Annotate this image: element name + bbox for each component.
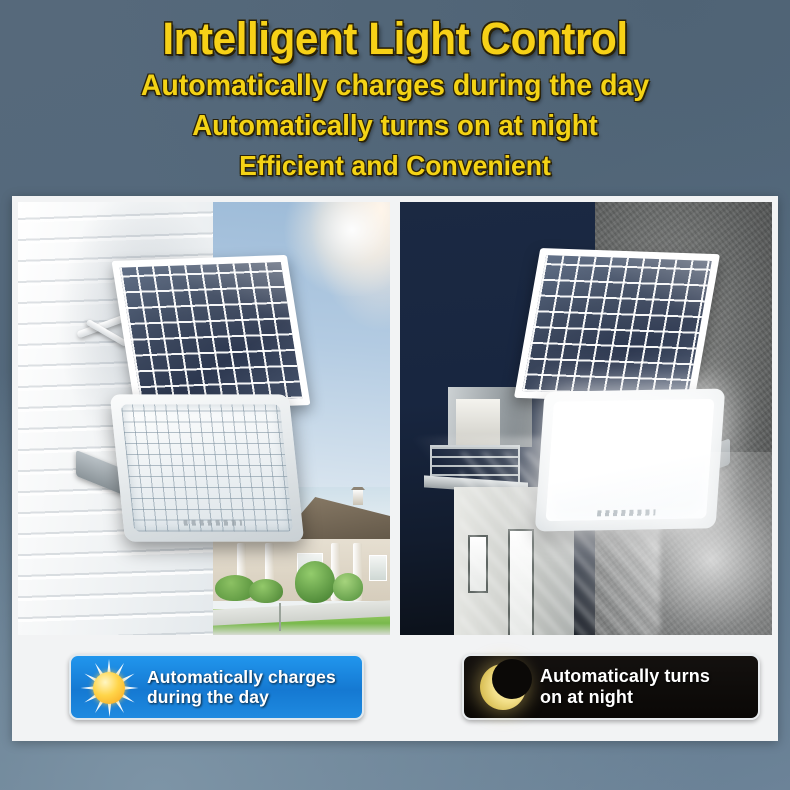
badge-day-line-2: during the day — [147, 687, 336, 707]
product-banner: Intelligent Light Control Automatically … — [0, 0, 790, 790]
lamp-post — [279, 603, 281, 631]
house-window — [468, 535, 488, 593]
photo-row — [18, 202, 772, 635]
led-array — [121, 404, 293, 531]
badge-day-line-1: Automatically charges — [147, 667, 336, 687]
shrub — [249, 579, 283, 603]
floodlight-housing — [110, 394, 304, 541]
panel-reflection — [120, 262, 303, 404]
subtitle-line-1: Automatically charges during the day — [20, 71, 771, 101]
led-array — [546, 399, 715, 522]
lit-room — [456, 399, 500, 445]
tree — [295, 561, 335, 603]
feature-badges: Automatically charges during the day Aut… — [18, 641, 772, 735]
moon-icon — [464, 656, 540, 718]
gallery-card: Automatically charges during the day Aut… — [12, 196, 778, 741]
sun-icon — [71, 656, 147, 718]
moon-shadow — [492, 659, 532, 699]
house-window — [369, 555, 387, 581]
day-photo — [18, 202, 390, 635]
house-cupola — [353, 489, 363, 505]
floodlight-housing — [535, 389, 725, 532]
shrub — [333, 573, 363, 601]
house-window — [508, 529, 534, 635]
solar-panel — [514, 248, 720, 404]
panel-reflection — [522, 255, 711, 397]
page-title: Intelligent Light Control — [24, 16, 767, 61]
badge-night-text: Automatically turns on at night — [540, 666, 718, 708]
night-photo — [400, 202, 772, 635]
subtitle-line-2: Automatically turns on at night — [20, 112, 771, 141]
badge-night-line-2: on at night — [540, 687, 710, 708]
brand-logo — [183, 520, 242, 526]
headline-block: Intelligent Light Control Automatically … — [0, 0, 790, 180]
solar-panel — [112, 255, 311, 411]
badge-day[interactable]: Automatically charges during the day — [69, 654, 364, 720]
sun-disc — [93, 672, 125, 704]
subtitle-line-3: Efficient and Convenient — [20, 152, 771, 180]
badge-night[interactable]: Automatically turns on at night — [462, 654, 760, 720]
badge-night-line-1: Automatically turns — [540, 666, 710, 687]
badge-day-text: Automatically charges during the day — [147, 667, 344, 708]
brand-logo — [597, 509, 656, 516]
